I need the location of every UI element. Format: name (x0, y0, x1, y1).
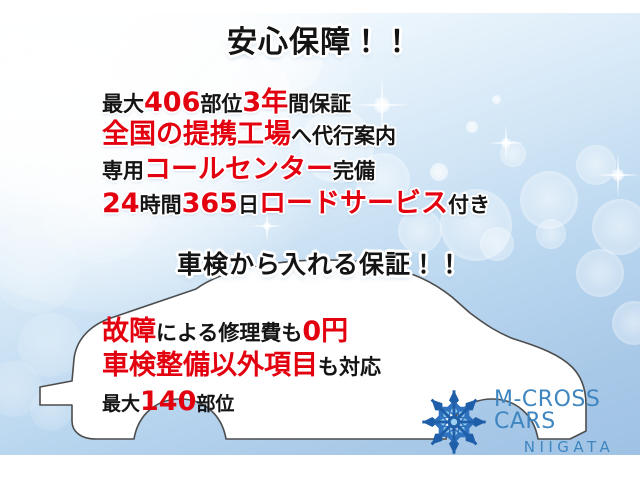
low-feature-line-3: 最大140部位 (102, 388, 234, 415)
segment: 付き (448, 193, 490, 217)
bokeh-circle (520, 171, 578, 229)
logo-wordmark: M-CROSS CARS NIIGATA (494, 389, 640, 455)
bokeh-circle (576, 145, 616, 185)
feature-line-2: 全国の提携工場へ代行案内 (102, 121, 396, 148)
segment: 365 (182, 188, 238, 219)
segment: 最大 (102, 92, 144, 116)
segment: 部位 (196, 393, 234, 415)
segment: 完備 (333, 159, 375, 183)
bokeh-circle (492, 95, 501, 104)
segment: 部位 (200, 92, 242, 116)
segment: コールセンター (144, 154, 333, 185)
sub-headline: 車検から入れる保証！！ (0, 252, 640, 277)
segment: 日 (238, 193, 259, 217)
segment: 3年 (242, 87, 288, 118)
top-white-band (0, 0, 640, 13)
page-title: 安心保障！！ (0, 28, 640, 58)
sparkle-icon (488, 125, 524, 161)
bottom-white-band (0, 455, 640, 480)
segment: 0円 (302, 316, 348, 347)
segment: ロードサービス (259, 188, 448, 219)
bokeh-circle (430, 163, 448, 181)
logo-brand-name: M-CROSS CARS (494, 389, 640, 433)
segment: 専用 (102, 159, 144, 183)
segment: 間保証 (288, 92, 351, 116)
feature-line-1: 最大406部位3年間保証 (102, 89, 351, 116)
segment: 故障 (102, 316, 156, 347)
low-feature-line-2: 車検整備以外項目も対応 (102, 352, 381, 379)
segment: 全国の提携工場 (102, 119, 291, 150)
segment: による修理費も (156, 321, 302, 345)
segment: 24 (102, 188, 140, 219)
snowflake-icon (418, 386, 490, 458)
segment: 車検整備以外項目 (102, 350, 318, 381)
feature-line-3: 専用コールセンター完備 (102, 156, 375, 183)
segment: 406 (144, 87, 200, 118)
bokeh-circle (592, 199, 640, 255)
segment: 時間 (140, 193, 182, 217)
bokeh-circle (536, 219, 566, 249)
logo-region-name: NIIGATA (524, 440, 615, 455)
segment: へ代行案内 (291, 124, 396, 148)
brand-logo: M-CROSS CARS NIIGATA (418, 386, 640, 458)
sparkle-icon (596, 153, 640, 197)
promo-banner: 安心保障！！ 最大406部位3年間保証 全国の提携工場へ代行案内 専用コールセン… (0, 0, 640, 480)
segment: も対応 (318, 355, 381, 379)
feature-line-4: 24時間365日ロードサービス付き (102, 190, 490, 217)
bokeh-circle (500, 141, 526, 167)
bokeh-circle (466, 121, 478, 133)
low-feature-line-1: 故障による修理費も0円 (102, 318, 348, 345)
segment: 140 (140, 386, 196, 417)
segment: 最大 (102, 393, 140, 415)
